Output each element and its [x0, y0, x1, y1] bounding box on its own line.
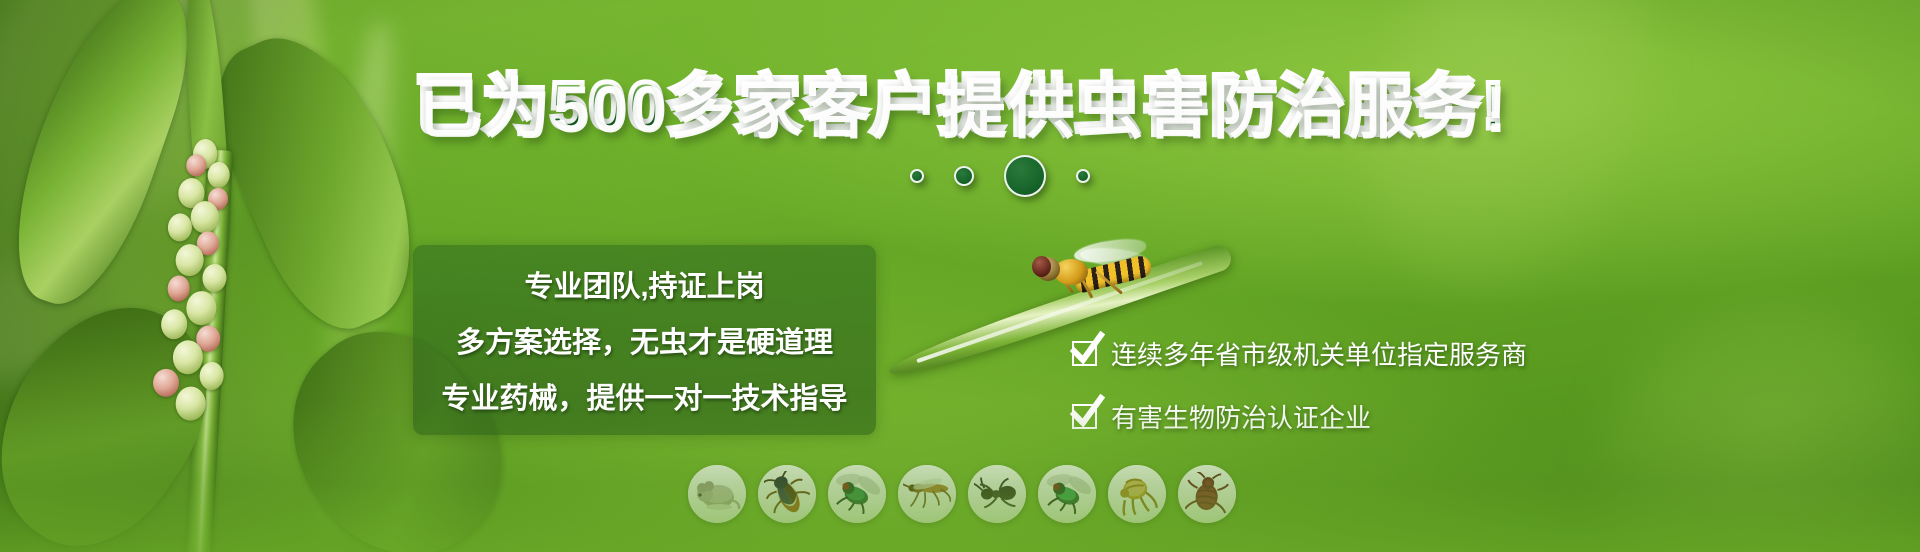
checklist-item: 连续多年省市级机关单位指定服务商 [1072, 335, 1527, 372]
banner-headline-text: 已为500多家客户提供虫害防治服务! [414, 68, 1506, 142]
checkbox-check-icon [1072, 341, 1097, 366]
decorative-dot-large [1004, 155, 1046, 197]
pest-icon-ant[interactable] [968, 465, 1026, 523]
pest-control-hero-banner: 已为500多家客户提供虫害防治服务! 专业团队,持证上岗 多方案选择，无虫才是硬… [0, 0, 1920, 552]
pest-icon-housefly[interactable] [828, 465, 886, 523]
slogan-line-3: 专业药械，提供一对一技术指导 [441, 375, 847, 417]
slogan-line-1: 专业团队,持证上岗 [524, 263, 764, 305]
pest-icon-bedbug[interactable] [1178, 465, 1236, 523]
decorative-dot-medium [954, 166, 974, 186]
pest-icon-mouse[interactable] [688, 465, 746, 523]
checklist-item-label: 有害生物防治认证企业 [1111, 398, 1371, 435]
checkbox-check-icon [1072, 404, 1097, 429]
decorative-dots [0, 155, 1920, 197]
checklist-item-label: 连续多年省市级机关单位指定服务商 [1111, 335, 1527, 372]
pest-icon-strip [688, 465, 1236, 523]
decorative-dot-small [910, 169, 924, 183]
decorative-dot-small [1076, 169, 1090, 183]
checklist-item: 有害生物防治认证企业 [1072, 398, 1527, 435]
slogan-line-2: 多方案选择，无虫才是硬道理 [456, 319, 833, 361]
hoverfly-eye [1032, 256, 1051, 277]
credentials-checklist: 连续多年省市级机关单位指定服务商 有害生物防治认证企业 [1072, 335, 1527, 435]
pest-icon-cockroach[interactable] [758, 465, 816, 523]
banner-headline: 已为500多家客户提供虫害防治服务! [0, 72, 1920, 138]
pest-icon-flea[interactable] [1108, 465, 1166, 523]
slogan-panel: 专业团队,持证上岗 多方案选择，无虫才是硬道理 专业药械，提供一对一技术指导 [413, 245, 876, 435]
pest-icon-greenbottle-fly[interactable] [1038, 465, 1096, 523]
hoverfly-icon [1030, 245, 1160, 303]
pest-icon-mosquito[interactable] [898, 465, 956, 523]
